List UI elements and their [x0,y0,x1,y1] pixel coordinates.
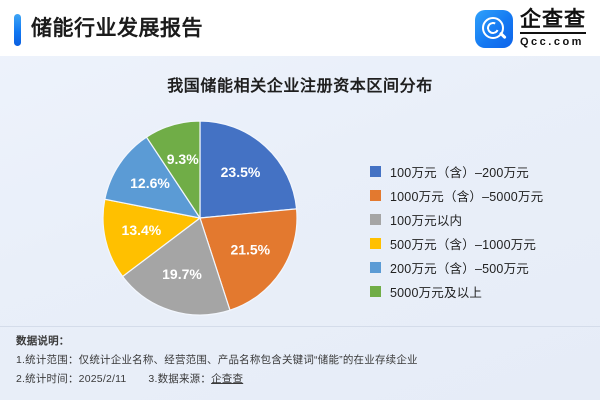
pie-slices [103,121,297,315]
pie-slice-value: 12.6% [130,175,170,191]
legend-swatch-icon [370,238,381,249]
legend-swatch-icon [370,262,381,273]
legend-item[interactable]: 200万元（含）–500万元 [370,256,590,278]
brand-name-en: Qcc.com [520,37,586,48]
brand-logo[interactable]: 企查查 Qcc.com [475,9,586,48]
pie-slice-value: 23.5% [221,164,261,180]
legend-swatch-icon [370,286,381,297]
footer-heading: 数据说明： [16,332,586,351]
chart-title: 我国储能相关企业注册资本区间分布 [0,72,600,96]
legend-item[interactable]: 1000万元（含）–5000万元 [370,184,590,206]
legend-item-label: 100万元（含）–200万元 [390,162,529,181]
legend-item-label: 100万元以内 [390,210,462,229]
legend-item-label: 5000万元及以上 [390,282,482,301]
brand-logo-text: 企查查 Qcc.com [520,9,586,48]
legend-item[interactable]: 5000万元及以上 [370,280,590,302]
legend-item-label: 200万元（含）–500万元 [390,258,529,277]
legend-item-label: 1000万元（含）–5000万元 [390,186,543,205]
legend-item[interactable]: 500万元（含）–1000万元 [370,232,590,254]
footer-time-value: 2025/2/11 [79,373,127,385]
accent-bar [14,14,21,46]
legend-item[interactable]: 100万元以内 [370,208,590,230]
footer-note-meta: 2.统计时间：2025/2/113.数据来源：企查查 [16,370,586,389]
pie-chart: 23.5%21.5%19.7%13.4%12.6%9.3% [100,118,300,318]
qcc-logo-icon [475,10,513,48]
pie-chart-svg: 23.5%21.5%19.7%13.4%12.6%9.3% [100,118,300,318]
pie-slice-value: 9.3% [167,151,199,167]
pie-slice-value: 19.7% [162,266,202,282]
page-title: 储能行业发展报告 [31,12,203,46]
legend-swatch-icon [370,190,381,201]
footer-source-label: 3.数据来源： [148,373,211,385]
brand-name-cn: 企查查 [520,9,586,34]
pie-slice-value: 21.5% [230,242,270,258]
footer-divider [0,326,600,327]
footer-source-value[interactable]: 企查查 [211,373,243,385]
footer-note-scope: 1.统计范围：仅统计企业名称、经营范围、产品名称包含关键词“储能”的在业存续企业 [16,351,586,370]
page-header: 储能行业发展报告 企查查 Qcc.com [0,0,600,56]
legend-item-label: 500万元（含）–1000万元 [390,234,536,253]
footer-notes: 数据说明： 1.统计范围：仅统计企业名称、经营范围、产品名称包含关键词“储能”的… [16,332,586,389]
legend-swatch-icon [370,166,381,177]
report-page: 储能行业发展报告 企查查 Qcc.com 我国储能相关企业注册资本区间分布 23… [0,0,600,400]
legend-item[interactable]: 100万元（含）–200万元 [370,160,590,182]
chart-legend: 100万元（含）–200万元1000万元（含）–5000万元100万元以内500… [370,160,590,304]
legend-swatch-icon [370,214,381,225]
pie-slice-value: 13.4% [122,222,162,238]
footer-time-label: 2.统计时间： [16,373,79,385]
